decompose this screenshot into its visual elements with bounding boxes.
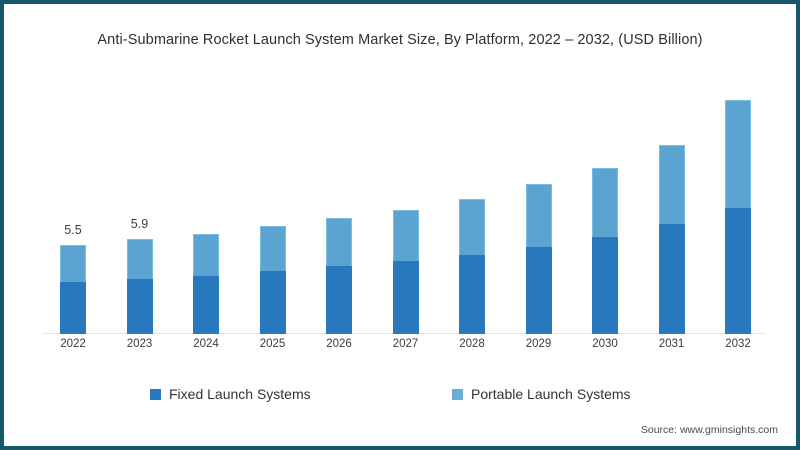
bar-segment-portable[interactable] bbox=[60, 245, 86, 282]
bar-group[interactable] bbox=[193, 84, 219, 334]
bar-segment-portable[interactable] bbox=[459, 199, 485, 255]
bar-stack[interactable] bbox=[526, 184, 552, 334]
bar-segment-portable[interactable] bbox=[526, 184, 552, 247]
x-axis-tick-label: 2024 bbox=[179, 338, 233, 350]
bar-segment-fixed[interactable] bbox=[127, 279, 153, 334]
bar-segment-fixed[interactable] bbox=[526, 247, 552, 334]
legend-swatch-icon bbox=[150, 389, 161, 400]
x-axis-tick-label: 2026 bbox=[312, 338, 366, 350]
bar-stack[interactable] bbox=[260, 226, 286, 334]
bar-group[interactable] bbox=[526, 84, 552, 334]
x-axis-tick-label: 2028 bbox=[445, 338, 499, 350]
bar-segment-fixed[interactable] bbox=[326, 266, 352, 334]
bar-stack[interactable] bbox=[459, 199, 485, 334]
bar-segment-fixed[interactable] bbox=[459, 255, 485, 334]
legend-label: Fixed Launch Systems bbox=[169, 386, 311, 402]
bar-segment-fixed[interactable] bbox=[60, 282, 86, 334]
bar-group[interactable] bbox=[592, 84, 618, 334]
bar-value-label: 5.9 bbox=[113, 217, 167, 231]
bar-stack[interactable] bbox=[60, 245, 86, 334]
bar-stack[interactable] bbox=[725, 100, 751, 334]
chart-canvas: Anti-Submarine Rocket Launch System Mark… bbox=[4, 4, 796, 446]
bar-stack[interactable] bbox=[193, 234, 219, 334]
bar-segment-portable[interactable] bbox=[326, 218, 352, 266]
x-axis-tick-label: 2023 bbox=[113, 338, 167, 350]
x-axis-tick-label: 2030 bbox=[578, 338, 632, 350]
bar-segment-portable[interactable] bbox=[260, 226, 286, 271]
legend-swatch-icon bbox=[452, 389, 463, 400]
bar-segment-fixed[interactable] bbox=[592, 237, 618, 334]
x-axis-tick-label: 2027 bbox=[379, 338, 433, 350]
chart-legend: Fixed Launch Systems Portable Launch Sys… bbox=[4, 386, 796, 410]
bar-group[interactable]: 5.9 bbox=[127, 84, 153, 334]
x-axis-labels: 2022202320242025202620272028202920302031… bbox=[42, 338, 766, 360]
page-title: Anti-Submarine Rocket Launch System Mark… bbox=[4, 32, 796, 48]
bar-segment-fixed[interactable] bbox=[725, 208, 751, 334]
bar-segment-portable[interactable] bbox=[393, 210, 419, 262]
x-axis-tick-label: 2031 bbox=[645, 338, 699, 350]
bar-stack[interactable] bbox=[592, 168, 618, 334]
bar-segment-fixed[interactable] bbox=[393, 261, 419, 334]
bar-group[interactable] bbox=[326, 84, 352, 334]
plot-area: 5.55.9 bbox=[42, 84, 766, 334]
bar-stack[interactable] bbox=[393, 210, 419, 334]
bar-segment-portable[interactable] bbox=[127, 239, 153, 279]
legend-label: Portable Launch Systems bbox=[471, 386, 631, 402]
bar-segment-fixed[interactable] bbox=[260, 271, 286, 334]
bar-value-label: 5.5 bbox=[46, 223, 100, 237]
bar-stack[interactable] bbox=[127, 239, 153, 334]
x-axis-tick-label: 2022 bbox=[46, 338, 100, 350]
bar-stack[interactable] bbox=[326, 218, 352, 334]
bar-stack[interactable] bbox=[659, 145, 685, 334]
legend-item-fixed-launch-systems[interactable]: Fixed Launch Systems bbox=[150, 386, 311, 402]
bar-group[interactable] bbox=[725, 84, 751, 334]
bar-group[interactable] bbox=[659, 84, 685, 334]
bar-segment-portable[interactable] bbox=[592, 168, 618, 237]
legend-item-portable-launch-systems[interactable]: Portable Launch Systems bbox=[452, 386, 631, 402]
bar-segment-fixed[interactable] bbox=[193, 276, 219, 334]
x-axis-tick-label: 2032 bbox=[711, 338, 765, 350]
bar-segment-portable[interactable] bbox=[193, 234, 219, 276]
bar-group[interactable]: 5.5 bbox=[60, 84, 86, 334]
bar-group[interactable] bbox=[393, 84, 419, 334]
x-axis-tick-label: 2025 bbox=[246, 338, 300, 350]
bar-segment-portable[interactable] bbox=[725, 100, 751, 208]
bar-segment-portable[interactable] bbox=[659, 145, 685, 224]
x-axis-tick-label: 2029 bbox=[512, 338, 566, 350]
bar-segment-fixed[interactable] bbox=[659, 224, 685, 334]
source-attribution: Source: www.gminsights.com bbox=[641, 424, 778, 436]
bar-group[interactable] bbox=[260, 84, 286, 334]
chart-frame: Anti-Submarine Rocket Launch System Mark… bbox=[0, 0, 800, 450]
bar-group[interactable] bbox=[459, 84, 485, 334]
